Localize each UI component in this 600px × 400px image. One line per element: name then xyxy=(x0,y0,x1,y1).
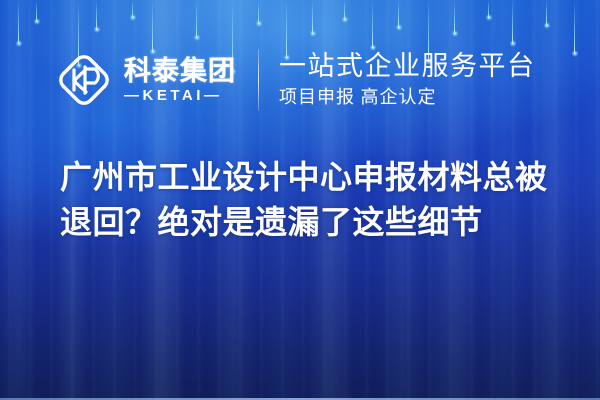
tagline-block: 一站式企业服务平台 项目申报 高企认定 xyxy=(279,51,536,108)
banner-header: 科泰集团 —KETAI— 一站式企业服务平台 项目申报 高企认定 xyxy=(54,44,536,116)
tagline-main: 一站式企业服务平台 xyxy=(279,51,536,83)
headline-line-1: 广州市工业设计中心申报材料总被 xyxy=(60,155,560,200)
logo-wordmark: 科泰集团 —KETAI— xyxy=(124,57,236,103)
tagline-sub: 项目申报 高企认定 xyxy=(279,87,536,109)
promo-banner: 科泰集团 —KETAI— 一站式企业服务平台 项目申报 高企认定 广州市工业设计… xyxy=(0,0,600,400)
headline-line-2: 退回？绝对是遗漏了这些细节 xyxy=(60,200,560,245)
ketai-diamond-kp-logo-icon xyxy=(54,50,114,110)
header-divider xyxy=(258,49,259,111)
logo-company-name-en: —KETAI— xyxy=(124,88,236,103)
logo-company-name-cn: 科泰集团 xyxy=(124,57,236,85)
headline: 广州市工业设计中心申报材料总被 退回？绝对是遗漏了这些细节 xyxy=(60,155,560,246)
